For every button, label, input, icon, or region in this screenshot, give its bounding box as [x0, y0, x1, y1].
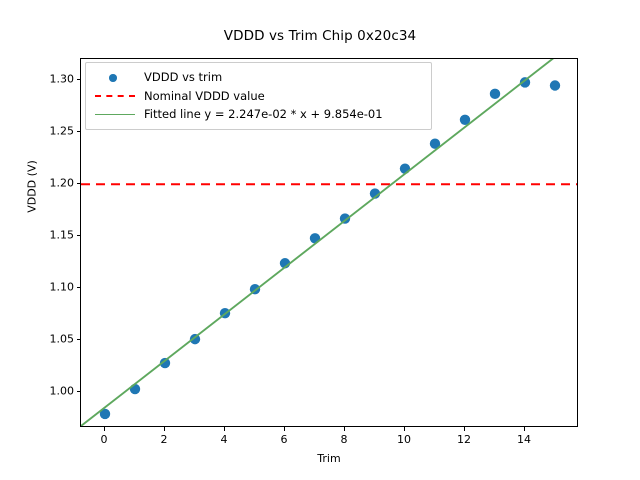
x-axis-label: Trim: [80, 452, 578, 465]
x-tick-label: 10: [397, 433, 411, 446]
y-tick-label: 1.00: [28, 385, 74, 398]
legend-item-fitted: Fitted line y = 2.247e-02 * x + 9.854e-0…: [92, 105, 424, 124]
x-tick-label: 2: [161, 433, 168, 446]
data-point: [550, 80, 560, 90]
legend-item-nominal: Nominal VDDD value: [92, 87, 424, 106]
matplotlib-figure: VDDD vs Trim Chip 0x20c34 VDDD (V) Trim …: [0, 0, 640, 480]
x-tick-mark: [524, 427, 525, 431]
y-tick-label: 1.15: [28, 229, 74, 242]
legend-label-fitted: Fitted line y = 2.247e-02 * x + 9.854e-0…: [144, 107, 383, 121]
y-tick-label: 1.20: [28, 177, 74, 190]
y-tick-label: 1.10: [28, 281, 74, 294]
page-title: VDDD vs Trim Chip 0x20c34: [0, 28, 640, 44]
legend-item-scatter: VDDD vs trim: [92, 68, 424, 87]
x-tick-label: 0: [101, 433, 108, 446]
x-tick-label: 4: [221, 433, 228, 446]
x-tick-mark: [464, 427, 465, 431]
x-tick-mark: [344, 427, 345, 431]
data-point: [400, 163, 410, 173]
solid-line-icon: [92, 107, 138, 121]
dashed-line-icon: [92, 89, 138, 103]
data-point: [130, 384, 140, 394]
y-tick-label: 1.25: [28, 125, 74, 138]
legend-label-scatter: VDDD vs trim: [144, 70, 222, 84]
legend: VDDD vs trim Nominal VDDD value Fitted l…: [85, 62, 432, 130]
legend-label-nominal: Nominal VDDD value: [144, 89, 265, 103]
x-tick-label: 14: [517, 433, 531, 446]
x-tick-mark: [164, 427, 165, 431]
x-tick-mark: [404, 427, 405, 431]
y-tick-label: 1.30: [28, 73, 74, 86]
x-tick-label: 12: [457, 433, 471, 446]
y-tick-label: 1.05: [28, 333, 74, 346]
x-tick-mark: [104, 427, 105, 431]
x-tick-mark: [284, 427, 285, 431]
x-tick-label: 6: [281, 433, 288, 446]
x-tick-label: 8: [341, 433, 348, 446]
scatter-marker-icon: [92, 70, 138, 84]
data-point: [490, 89, 500, 99]
x-tick-mark: [224, 427, 225, 431]
